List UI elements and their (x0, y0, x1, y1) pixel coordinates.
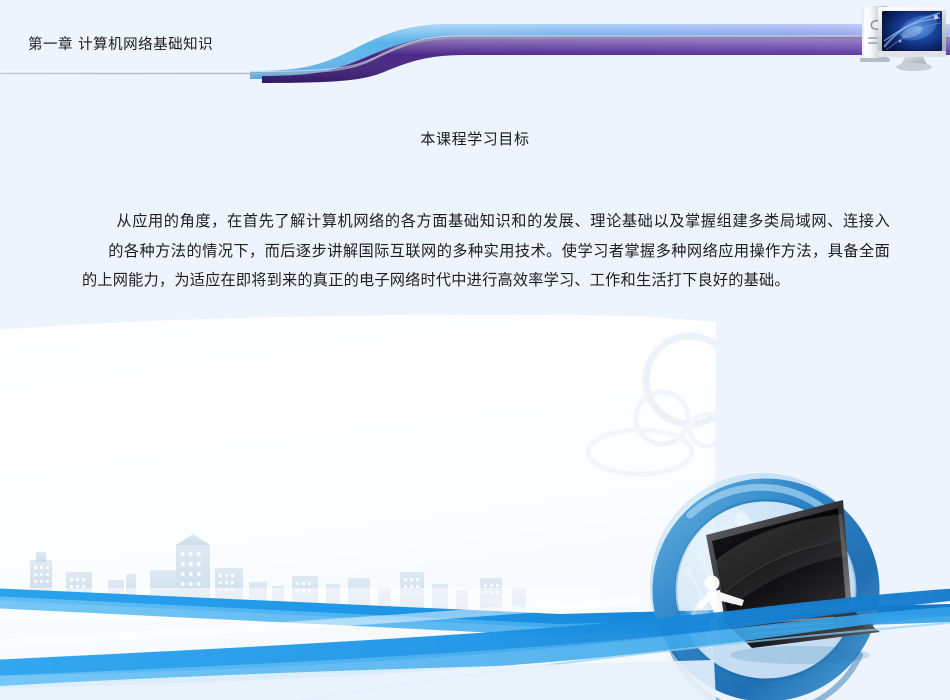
slide-body-text: 从应用的角度，在首先了解计算机网络的各方面基础知识和的发展、理论基础以及掌握组建… (82, 207, 890, 296)
desktop-computer-icon (848, 1, 948, 73)
slide-background-artwork (0, 0, 950, 700)
chapter-heading: 第一章 计算机网络基础知识 (28, 33, 213, 54)
body-paragraph: 从应用的角度，在首先了解计算机网络的各方面基础知识和的发展、理论基础以及掌握组建… (82, 207, 890, 296)
slide-title: 本课程学习目标 (0, 128, 950, 149)
body-text-part-2: 的各种方法的情况下，而后逐步讲解国际互联网的多种实用技术。使学习者掌握多种网络应… (82, 242, 890, 290)
presentation-slide: 第一章 计算机网络基础知识 本课程学习目标 从应用的角度，在首先了解计算机网络的… (0, 0, 950, 700)
body-text-part-1: 从应用的角度，在首先了解计算机网络的各方面基础知识和的发展、理论基础以及掌握组建… (116, 212, 890, 230)
